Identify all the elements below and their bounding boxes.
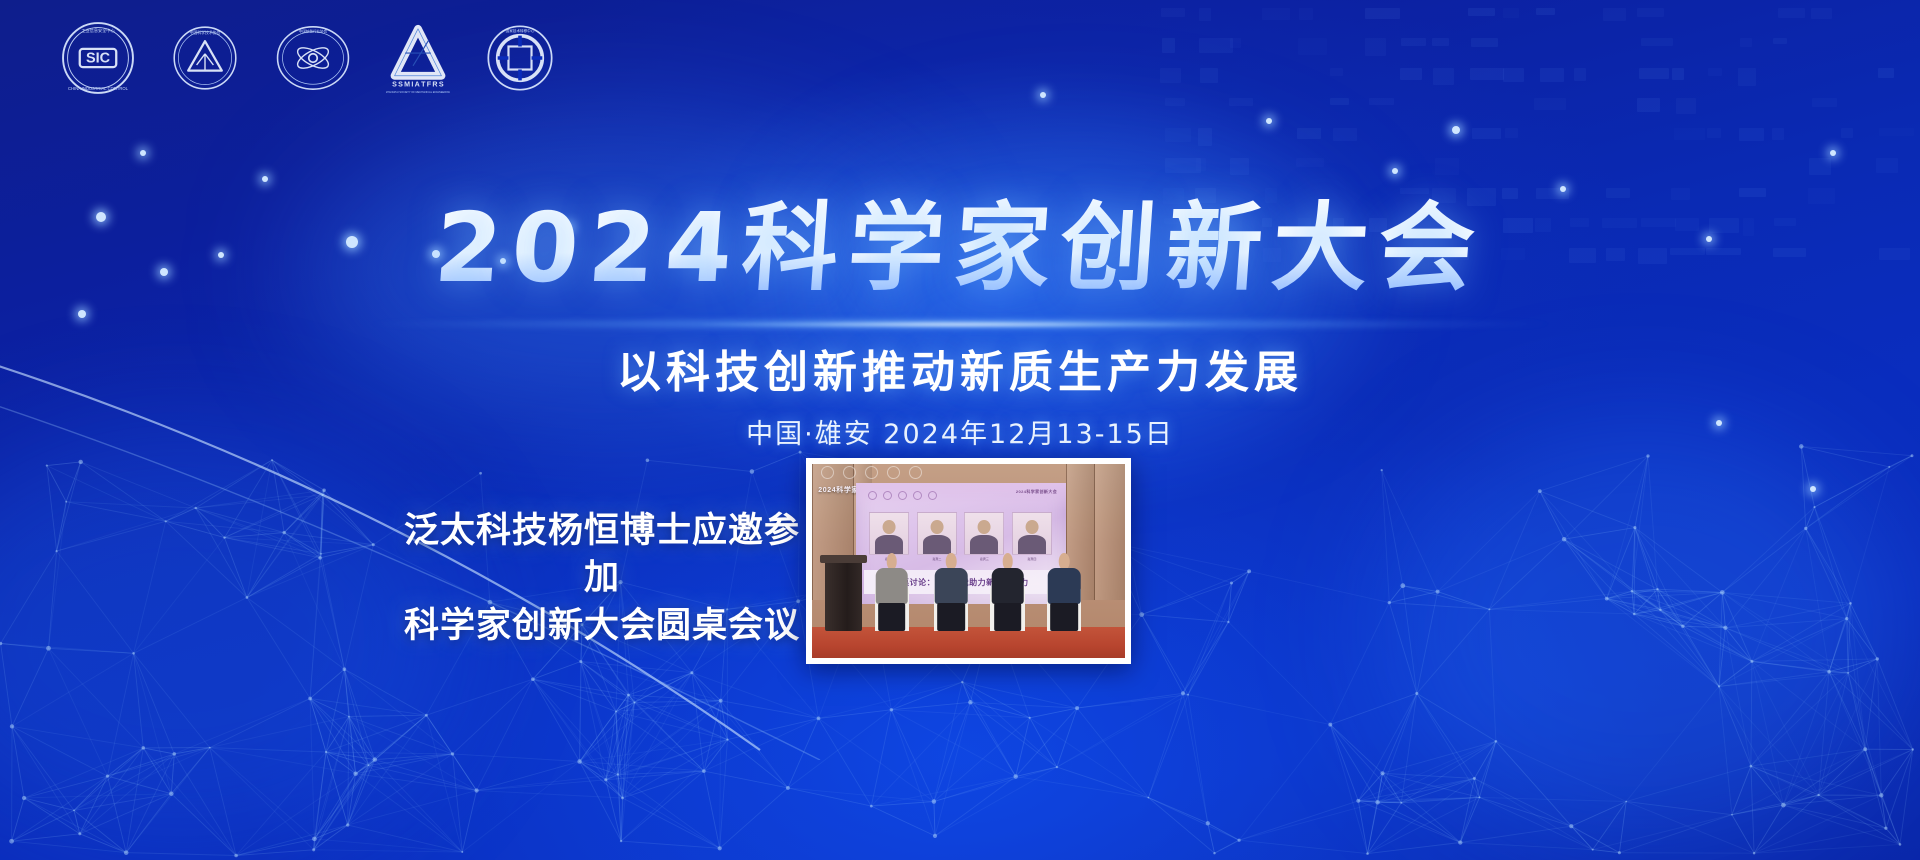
person-torso <box>1048 568 1081 604</box>
horizon-light-core <box>700 322 1220 327</box>
panelist-person <box>931 553 972 631</box>
home-icon <box>883 491 892 500</box>
target-icon <box>928 491 937 500</box>
panelist-person <box>1044 553 1085 631</box>
portrait-name: 嘉宾四 <box>1027 557 1036 561</box>
portrait-body <box>875 535 903 554</box>
panelist-person <box>987 553 1028 631</box>
portrait-photo <box>869 512 909 555</box>
shanghai-institute-triangle-logo: S S M I A T F R S SHANGHAI SOCIETY OF ME… <box>386 18 450 98</box>
particle-dot <box>140 150 146 156</box>
svg-text:工业信息安全中心: 工业信息安全中心 <box>81 27 114 33</box>
sic-emblem-logo: SIC 工业信息安全中心 CHINA INDUSTRIAL CONTROL <box>60 20 136 96</box>
person-legs <box>937 603 965 631</box>
person-legs <box>1050 603 1078 631</box>
event-headline-line-2: 科学家创新大会圆桌会议 <box>392 603 812 650</box>
banner-dateline: 中国·雄安 2024年12月13-15日 <box>0 412 1920 451</box>
triangle-icon <box>913 491 922 500</box>
atom-seal-logo: 中国核能行业协会 <box>274 22 352 94</box>
partner-logos: SIC 工业信息安全中心 CHINA INDUSTRIAL CONTROL 中国… <box>60 18 556 98</box>
podium-top <box>820 555 867 563</box>
target-icon <box>909 466 922 479</box>
particle-dot <box>1830 150 1836 156</box>
svg-text:中国核能行业协会: 中国核能行业协会 <box>299 28 328 33</box>
portrait-head <box>930 520 943 534</box>
particle-dot <box>1266 118 1272 124</box>
portrait-photo <box>964 512 1004 555</box>
particle-dot <box>262 176 268 182</box>
particle-dot <box>1560 186 1566 192</box>
portrait-head <box>883 520 896 534</box>
portrait-photo <box>917 512 957 555</box>
svg-text:中国科学技术协会: 中国科学技术协会 <box>190 30 221 35</box>
portrait-body <box>1018 535 1046 554</box>
svg-text:CHINA INDUSTRIAL CONTROL: CHINA INDUSTRIAL CONTROL <box>68 86 129 91</box>
person-legs <box>994 603 1022 631</box>
event-headline: 泛太科技杨恒博士应邀参加 科学家创新大会圆桌会议 <box>392 508 812 650</box>
person-legs <box>878 603 906 631</box>
circle-icon <box>821 466 834 479</box>
wall-panel <box>1094 464 1125 600</box>
person-torso <box>876 568 909 604</box>
particle-dot <box>1392 168 1398 174</box>
triangle-icon <box>887 466 900 479</box>
svg-text:SIC: SIC <box>86 51 111 67</box>
circle-icon <box>868 491 877 500</box>
svg-text:国家技术转移中心: 国家技术转移中心 <box>506 28 535 33</box>
particle-dot <box>78 310 86 318</box>
swirl-icon <box>865 466 878 479</box>
portrait-body <box>923 535 951 554</box>
banner-title-wrap: 2024科学家创新大会 <box>0 198 1920 300</box>
photo-top-icons <box>821 466 922 479</box>
svg-text:SHANGHAI SOCIETY OF MECHANICAL: SHANGHAI SOCIETY OF MECHANICAL ENGINEERI… <box>386 90 450 94</box>
panel-photo-frame: 2024科学家创新大会 2024科学家创新大会 嘉宾一 <box>806 458 1131 664</box>
panel-photo: 2024科学家创新大会 2024科学家创新大会 嘉宾一 <box>812 464 1125 658</box>
screen-icon-row <box>868 491 937 500</box>
conference-banner: SIC 工业信息安全中心 CHINA INDUSTRIAL CONTROL 中国… <box>0 0 1920 860</box>
portrait-photo <box>1012 512 1052 555</box>
portrait-body <box>970 535 998 554</box>
event-headline-line-1: 泛太科技杨恒博士应邀参加 <box>392 508 812 603</box>
particle-dot <box>1810 486 1816 492</box>
banner-subtitle: 以科技创新推动新质生产力发展 <box>0 336 1920 400</box>
stage-floor <box>812 627 1125 658</box>
portrait-head <box>1025 520 1038 534</box>
home-icon <box>843 466 856 479</box>
circular-institute-logo: 国家技术转移中心 <box>484 22 556 94</box>
glow-bottom-left <box>0 430 460 850</box>
portrait-head <box>978 520 991 534</box>
panelist-person <box>871 553 912 631</box>
horizon-light-streak <box>370 318 1550 330</box>
svg-text:S S M I A T F R S: S S M I A T F R S <box>392 80 444 88</box>
person-torso <box>991 568 1024 604</box>
podium <box>825 561 863 631</box>
particle-dot <box>1040 92 1046 98</box>
particle-dot <box>1452 126 1460 134</box>
clock-icon <box>898 491 907 500</box>
person-torso <box>935 568 968 604</box>
glow-right <box>1380 420 1900 840</box>
triangle-seal-logo: 中国科学技术协会 <box>170 23 240 93</box>
page-title: 2024科学家创新大会 <box>426 198 1494 300</box>
screen-title: 2024科学家创新大会 <box>1016 489 1057 495</box>
